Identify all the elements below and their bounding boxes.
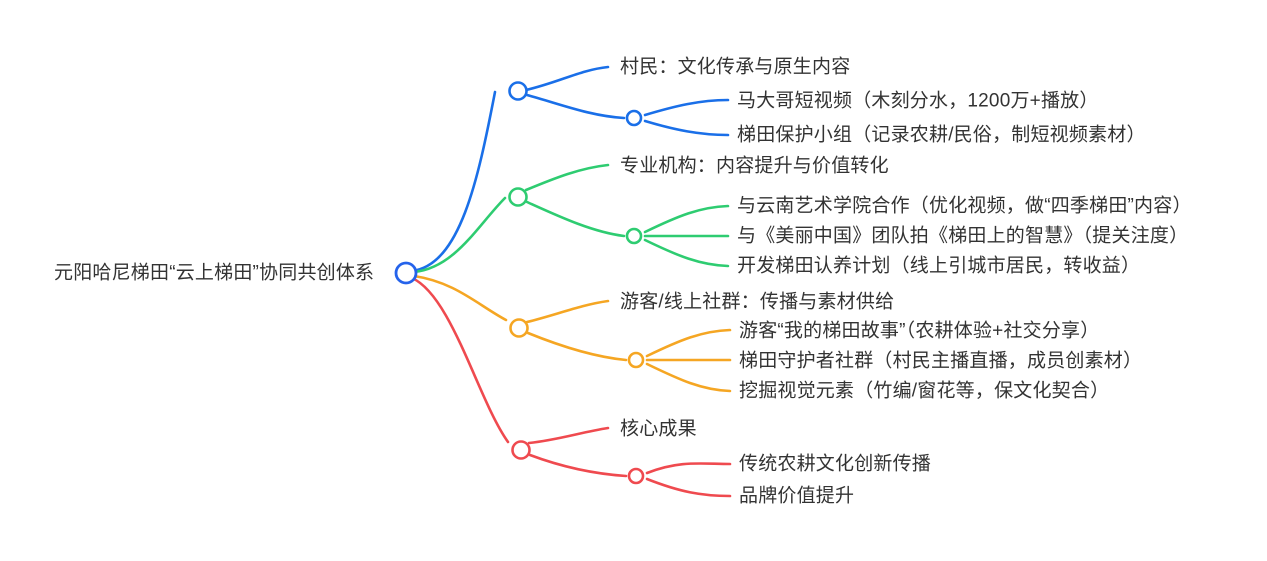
leaf-label-villagers-2: 梯田保护小组（记录农耕/民俗，制短视频素材） [737,126,1146,145]
connector-subnode-to-leaf-2 [647,479,730,496]
node-circle-institutions[interactable] [510,189,527,206]
connector-outcomes-to-title [529,428,608,443]
branch-connectors-institutions [414,165,728,272]
leaf-label-institutions-1: 与云南艺术学院合作（优化视频，做“四季梯田”内容） [737,197,1192,216]
leaf-label-outcomes-1: 传统农耕文化创新传播 [739,455,931,474]
connector-root-to-villagers [412,92,495,271]
leaf-label-tourists-1: 游客“我的梯田故事”（农耕体验+社交分享） [739,322,1099,341]
connector-tourists-to-subnode [528,333,626,360]
connector-subnode-to-leaf-1 [647,463,730,473]
branch-label-outcomes: 核心成果 [620,420,697,439]
connector-root-to-tourists [414,276,506,320]
node-circle-outcomes[interactable] [513,442,530,459]
connector-institutions-to-subnode [527,202,624,236]
connector-root-to-institutions [414,198,505,272]
root-label: 元阳哈尼梯田“云上梯田”协同共创体系 [54,264,374,283]
connector-subnode-to-leaf-2 [645,121,728,135]
connector-institutions-to-title [526,165,608,190]
node-circle-outcomes-sub[interactable] [629,469,643,483]
node-circle-tourists-sub[interactable] [629,353,643,367]
connector-subnode-to-leaf-3 [645,240,728,266]
node-circle-institutions-sub[interactable] [627,229,641,243]
mindmap-canvas: 元阳哈尼梯田“云上梯田”协同共创体系 村民：文化传承与原生内容 马大哥短视频（木… [0,0,1267,561]
connector-outcomes-to-subnode [530,455,626,476]
leaf-label-institutions-2: 与《美丽中国》团队拍《梯田上的智慧》（提关注度） [737,227,1188,246]
leaf-label-villagers-1: 马大哥短视频（木刻分水，1200万+播放） [737,92,1099,111]
leaf-label-outcomes-2: 品牌价值提升 [739,487,854,506]
leaf-label-tourists-3: 挖掘视觉元素（竹编/窗花等，保文化契合） [739,382,1109,401]
branch-label-institutions: 专业机构：内容提升与价值转化 [620,157,889,176]
leaf-label-institutions-3: 开发梯田认养计划（线上引城市居民，转收益） [737,257,1140,276]
node-circle-villagers-sub[interactable] [627,111,641,125]
node-circle-villagers[interactable] [510,83,527,100]
connector-root-to-outcomes [412,278,508,442]
node-circle-root[interactable] [396,263,416,283]
connector-subnode-to-leaf-1 [647,330,730,356]
branch-label-tourists: 游客/线上社群：传播与素材供给 [620,293,894,312]
connector-villagers-to-title [526,67,608,90]
connector-subnode-to-leaf-1 [645,100,728,115]
node-circle-tourists[interactable] [511,320,528,337]
connector-tourists-to-title [527,301,608,322]
connector-subnode-to-leaf-3 [647,364,730,391]
connector-villagers-to-subnode [527,95,624,118]
branch-label-villagers: 村民：文化传承与原生内容 [620,58,850,77]
leaf-label-tourists-2: 梯田守护者社群（村民主播直播，成员创素材） [739,352,1142,371]
connector-subnode-to-leaf-1 [645,206,728,232]
